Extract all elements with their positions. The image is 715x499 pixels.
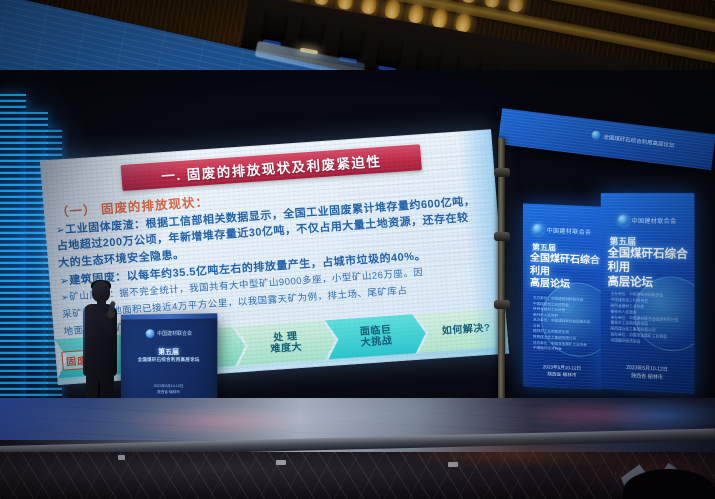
banner-organizer-list: 主办单位：中国建筑材料联合会 中国煤炭加工利用协会 陕西省建材工业协会 榆林市人…: [533, 296, 593, 354]
stage-front-facade: [0, 452, 715, 499]
ceiling-lamp: [360, 0, 378, 15]
globe-logo-icon: [145, 329, 154, 338]
facade-marker: [448, 462, 458, 467]
ceiling-lamp: [460, 0, 478, 4]
banner-date-location: 2023年5月10-12日 陕西省·榆林市: [601, 364, 695, 384]
led-strip-column: [26, 112, 48, 408]
podium-edition: 第五届: [121, 347, 217, 357]
banner-title: 全国煤矸石综合利用 高层论坛: [608, 246, 695, 291]
ceiling-lamp: [384, 0, 402, 20]
led-strip-column: [0, 94, 26, 408]
led-banner-right: 中国建材联合会 第五届 全国煤矸石综合利用 高层论坛 主办单位：中国建筑材料联合…: [601, 193, 695, 394]
facade-marker: [118, 455, 125, 460]
flow-chevron-label: 面临巨 大挑战: [359, 324, 392, 349]
overhead-banner-logo-text: 全国煤矸石综合利用高层论坛: [603, 132, 675, 149]
truss-clamp: [494, 232, 510, 241]
banner-logo-text: 中国建材联合会: [632, 216, 677, 225]
banner-logo: 中国建材联合会: [618, 215, 677, 226]
podium-top-edge: [121, 313, 217, 319]
ceiling-lamp: [407, 3, 425, 25]
banner-organizer-list: 主办单位：中国建筑材料联合会 中国煤炭加工利用协会 陕西省建材工业协会 榆林市人…: [611, 292, 687, 348]
globe-logo-icon: [591, 130, 601, 140]
flow-chevron-label: 处 理 难度大: [269, 330, 302, 355]
podium-title: 全国煤矸石综合利用高层论坛: [121, 357, 217, 363]
podium-date-location: 2023年5月10-12日 陕西省·榆林市: [121, 384, 217, 395]
speaker-head: [92, 281, 110, 302]
led-banner-left: 中国建材联合会 第五届 全国煤矸石综合利用 高层论坛 主办单位：中国建筑材料联合…: [523, 203, 601, 389]
floor-red-reflection: [120, 406, 320, 438]
banner-logo-text: 中国建材联合会: [547, 225, 592, 236]
facade-marker: [276, 460, 286, 465]
vertical-truss-pole: [498, 138, 505, 408]
globe-logo-icon: [618, 215, 629, 226]
stage-light-fixture: [336, 27, 365, 61]
stage-light-fixture: [260, 10, 289, 44]
podium-logo-text: 中国建材联合会: [157, 330, 192, 337]
ceiling-lamp: [507, 0, 525, 13]
ceiling-lamp: [484, 0, 502, 8]
stage-photograph: 全国煤矸石综合利用高层论坛 一. 固废的排放现状及利废紧迫性 （一） 固废的排放…: [0, 0, 715, 499]
speaker-hand: [107, 310, 115, 318]
overhead-banner-logo: 全国煤矸石综合利用高层论坛: [591, 130, 675, 149]
globe-logo-icon: [533, 224, 544, 235]
podium-logo: 中国建材联合会: [145, 329, 192, 338]
truss-clamp: [494, 300, 510, 309]
truss-clamp: [494, 168, 510, 177]
stage-light-fixture: [375, 36, 404, 70]
banner-date-location: 2023年5月10-12日 陕西省·榆林市: [523, 364, 601, 381]
banner-logo: 中国建材联合会: [533, 224, 592, 237]
banner-title: 全国煤矸石综合利用 高层论坛: [530, 253, 601, 293]
stage-light-fixture: [297, 18, 326, 52]
speaker-rim-light: [81, 303, 85, 379]
